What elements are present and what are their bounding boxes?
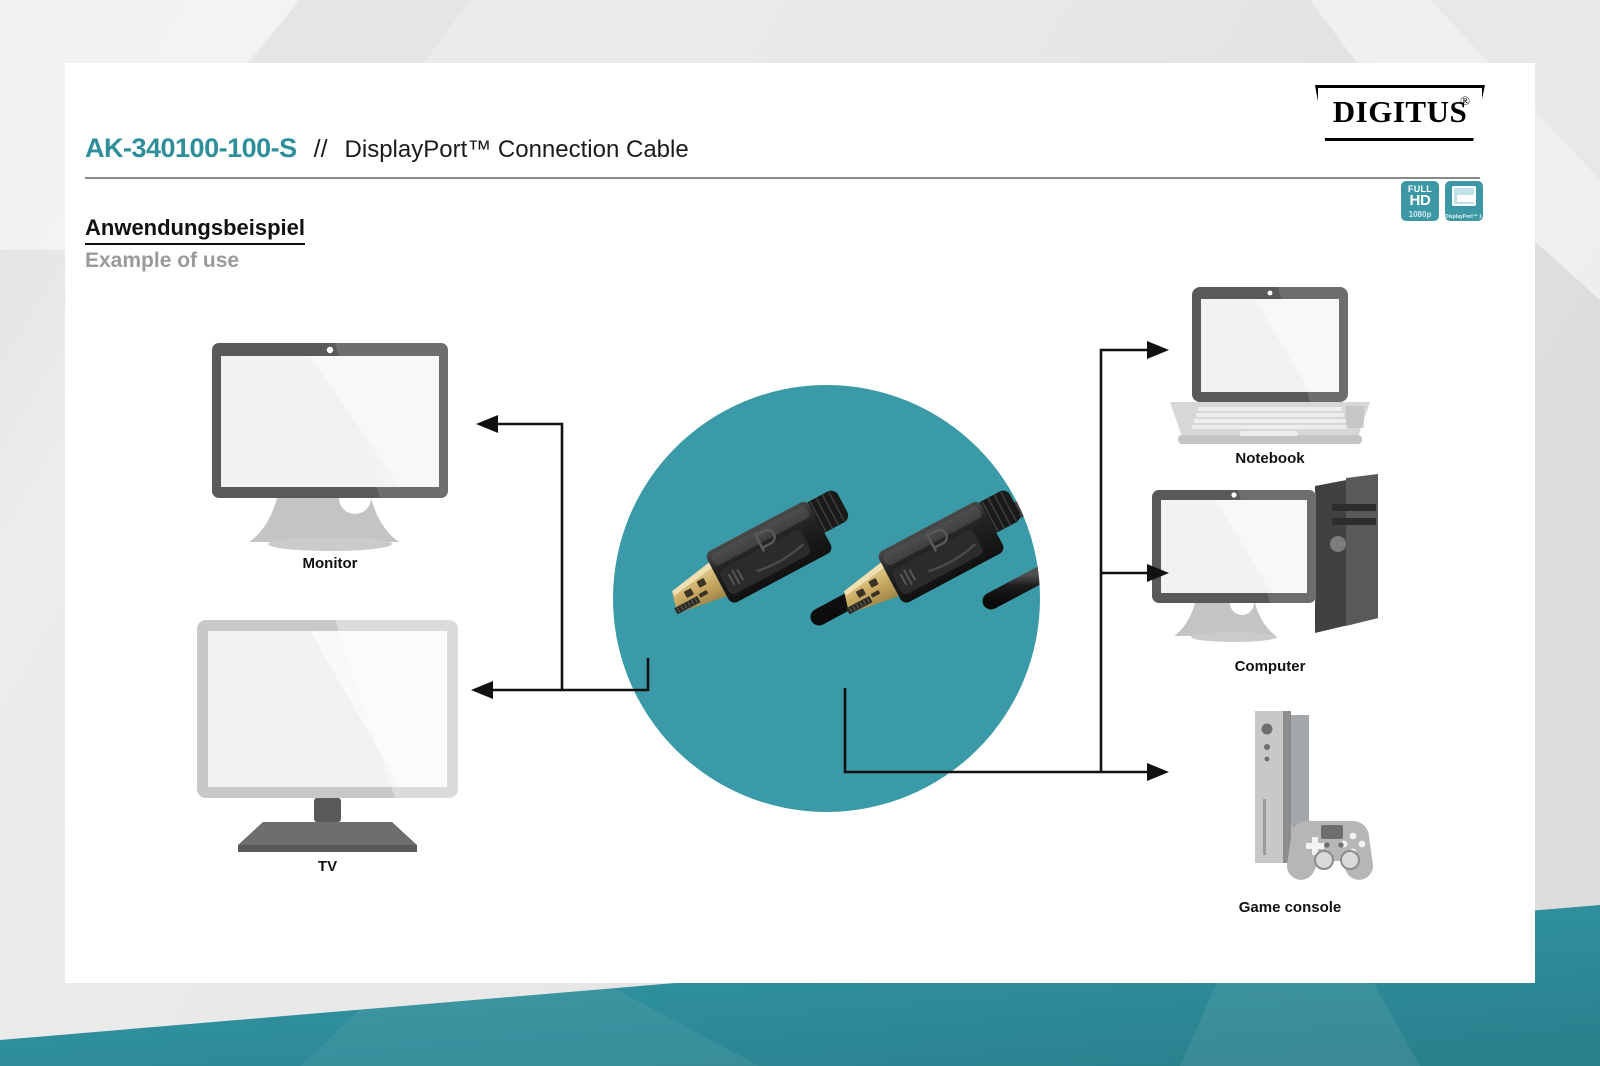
content-card: AK-340100-100-S // DisplayPort™ Connecti… (65, 63, 1535, 983)
arrow-heads (471, 341, 1169, 781)
connection-arrows (65, 63, 1535, 983)
usage-diagram: Monitor TV (65, 63, 1535, 983)
